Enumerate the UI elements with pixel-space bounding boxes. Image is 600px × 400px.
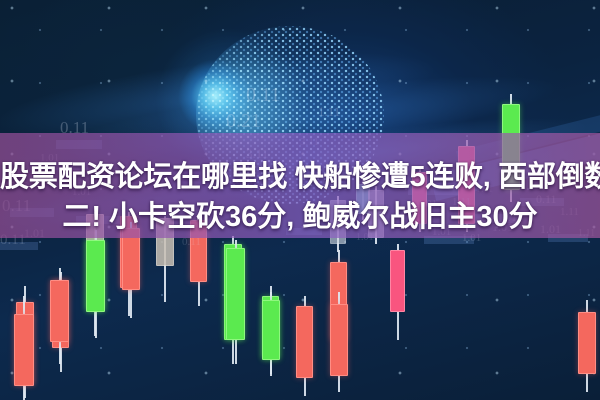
candle-16 [390, 244, 405, 340]
lower-candle-3 [86, 230, 105, 338]
candle-body [578, 312, 596, 374]
candle-9 [296, 296, 313, 396]
headline-line-2: 二! 小卡空砍36分, 鲍威尔战旧主30分 [0, 197, 600, 237]
candle-body [262, 300, 280, 360]
candle-body [296, 306, 313, 378]
candle-body [226, 248, 245, 340]
candle-body [50, 280, 69, 342]
candle-body [86, 240, 105, 312]
lower-candle-1 [14, 296, 34, 400]
lower-candle-5 [226, 240, 245, 364]
candle-body [330, 304, 348, 376]
candle-body [390, 250, 405, 312]
lower-candle-2 [50, 268, 69, 364]
candle-body [14, 314, 34, 386]
page-title: 股票配资论坛在哪里找 快船惨遭5连败, 西部倒数第 二! 小卡空砍36分, 鲍威… [0, 157, 600, 237]
lower-candle-8 [578, 300, 596, 392]
lower-candle-7 [330, 292, 348, 392]
banner-image: 0.110.110.111.011.011.010.110.110.211.11… [0, 0, 600, 400]
lower-candle-6 [262, 292, 280, 376]
headline-line-1: 股票配资论坛在哪里找 快船惨遭5连败, 西部倒数第 [0, 157, 600, 197]
